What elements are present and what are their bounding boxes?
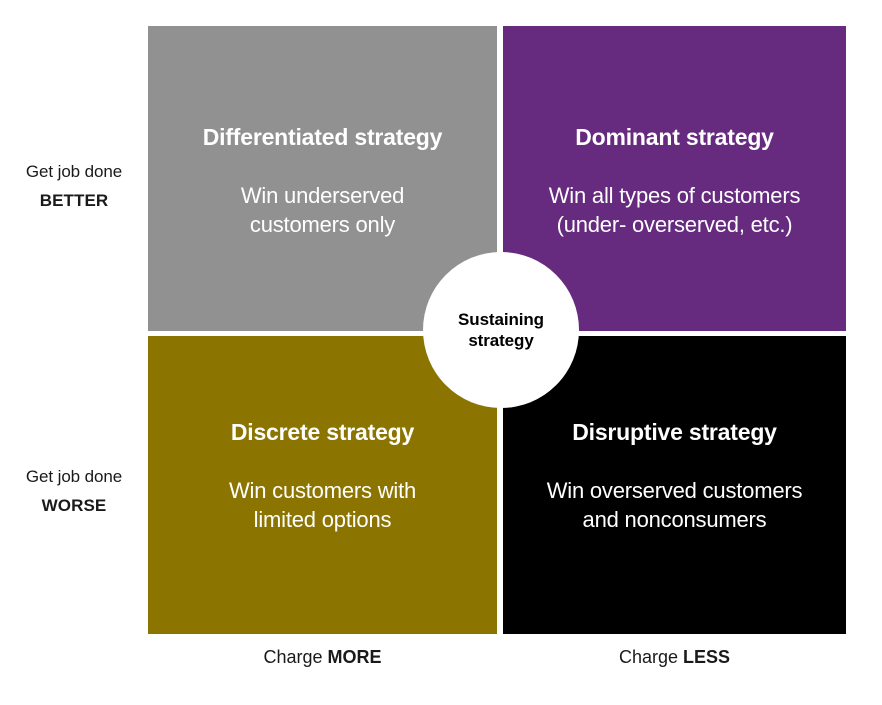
strategy-matrix-figure: Differentiated strategy Win underserved …: [0, 0, 882, 705]
quadrant-title: Discrete strategy: [148, 420, 497, 445]
quadrant-description-line-1: Win all types of customers: [503, 181, 846, 210]
x-axis-label-charge-less-emphasis: LESS: [683, 647, 730, 667]
quadrant-title: Differentiated strategy: [148, 125, 497, 150]
y-axis-label-worse-emphasis: WORSE: [0, 497, 148, 514]
x-axis-label-charge-less-lead: Charge: [619, 647, 683, 667]
quadrant-description-line-2: customers only: [148, 210, 497, 239]
x-axis-label-charge-less: Charge LESS: [503, 648, 846, 666]
quadrant-description: Win underserved customers only: [148, 181, 497, 239]
x-axis-label-charge-more: Charge MORE: [148, 648, 497, 666]
y-axis-label-better: Get job done BETTER: [0, 163, 148, 209]
center-circle-label-line-2: strategy: [458, 330, 544, 351]
y-axis-label-better-emphasis: BETTER: [0, 192, 148, 209]
center-circle-label: Sustaining strategy: [458, 309, 544, 352]
quadrant-description: Win all types of customers (under- overs…: [503, 181, 846, 239]
quadrant-title: Disruptive strategy: [503, 420, 846, 445]
quadrant-description-line-2: limited options: [148, 505, 497, 534]
quadrant-description-line-1: Win underserved: [148, 181, 497, 210]
y-axis-label-better-lead: Get job done: [0, 163, 148, 180]
quadrant-description-line-2: (under- overserved, etc.): [503, 210, 846, 239]
quadrant-description: Win overserved customers and nonconsumer…: [503, 476, 846, 534]
quadrant-description-line-1: Win overserved customers: [503, 476, 846, 505]
quadrant-description-line-2: and nonconsumers: [503, 505, 846, 534]
x-axis-label-charge-more-emphasis: MORE: [328, 647, 382, 667]
center-circle-label-line-1: Sustaining: [458, 309, 544, 330]
y-axis-label-worse-lead: Get job done: [0, 468, 148, 485]
quadrant-description: Win customers with limited options: [148, 476, 497, 534]
x-axis-label-charge-more-lead: Charge: [263, 647, 327, 667]
y-axis-label-worse: Get job done WORSE: [0, 468, 148, 514]
center-circle-sustaining-strategy[interactable]: Sustaining strategy: [423, 252, 579, 408]
quadrant-title: Dominant strategy: [503, 125, 846, 150]
quadrant-description-line-1: Win customers with: [148, 476, 497, 505]
